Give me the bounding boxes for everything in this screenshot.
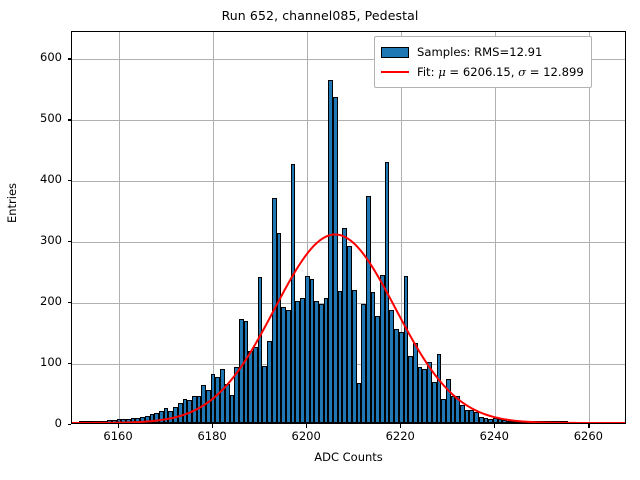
- legend-label-samples: Samples: RMS=12.91: [417, 45, 542, 59]
- y-tick-label: 100: [40, 355, 62, 369]
- gridline-vertical: [119, 32, 120, 423]
- y-tick-mark: [68, 58, 72, 59]
- gridline-horizontal: [72, 120, 625, 121]
- legend-patch-icon: [381, 47, 409, 58]
- x-tick-mark: [118, 424, 119, 428]
- x-tick-label: 6200: [276, 429, 336, 443]
- y-tick-label: 400: [40, 172, 62, 186]
- histogram-bar: [564, 421, 569, 423]
- x-tick-mark: [306, 424, 307, 428]
- legend: Samples: RMS=12.91 Fit: μ = 6206.15, σ =…: [374, 36, 592, 88]
- y-tick-label: 300: [40, 233, 62, 247]
- x-tick-mark: [588, 424, 589, 428]
- gridline-horizontal: [72, 181, 625, 182]
- y-tick-label: 500: [40, 111, 62, 125]
- page-title: Run 652, channel085, Pedestal: [0, 8, 640, 23]
- legend-item-fit: Fit: μ = 6206.15, σ = 12.899: [381, 62, 584, 82]
- x-axis-label: ADC Counts: [71, 450, 626, 464]
- y-tick-mark: [68, 302, 72, 303]
- gridline-vertical: [589, 32, 590, 423]
- x-tick-label: 6180: [182, 429, 242, 443]
- y-tick-mark: [68, 424, 72, 425]
- figure-canvas: Run 652, channel085, Pedestal 0100200300…: [0, 0, 640, 480]
- y-tick-label: 600: [40, 50, 62, 64]
- x-tick-mark: [400, 424, 401, 428]
- x-tick-mark: [212, 424, 213, 428]
- gridline-vertical: [213, 32, 214, 423]
- y-tick-mark: [68, 180, 72, 181]
- legend-item-samples: Samples: RMS=12.91: [381, 42, 584, 62]
- gridline-horizontal: [72, 242, 625, 243]
- x-tick-mark: [494, 424, 495, 428]
- y-tick-label: 200: [40, 294, 62, 308]
- y-tick-mark: [68, 241, 72, 242]
- y-tick-mark: [68, 363, 72, 364]
- legend-line-icon: [381, 71, 409, 73]
- plot-area: [71, 31, 626, 424]
- x-tick-label: 6240: [464, 429, 524, 443]
- x-tick-label: 6160: [88, 429, 148, 443]
- y-axis-label: Entries: [5, 173, 19, 233]
- x-tick-label: 6220: [370, 429, 430, 443]
- x-tick-label: 6260: [558, 429, 618, 443]
- gridline-vertical: [495, 32, 496, 423]
- legend-label-fit: Fit: μ = 6206.15, σ = 12.899: [417, 65, 584, 79]
- y-tick-label: 0: [55, 416, 62, 430]
- y-tick-mark: [68, 119, 72, 120]
